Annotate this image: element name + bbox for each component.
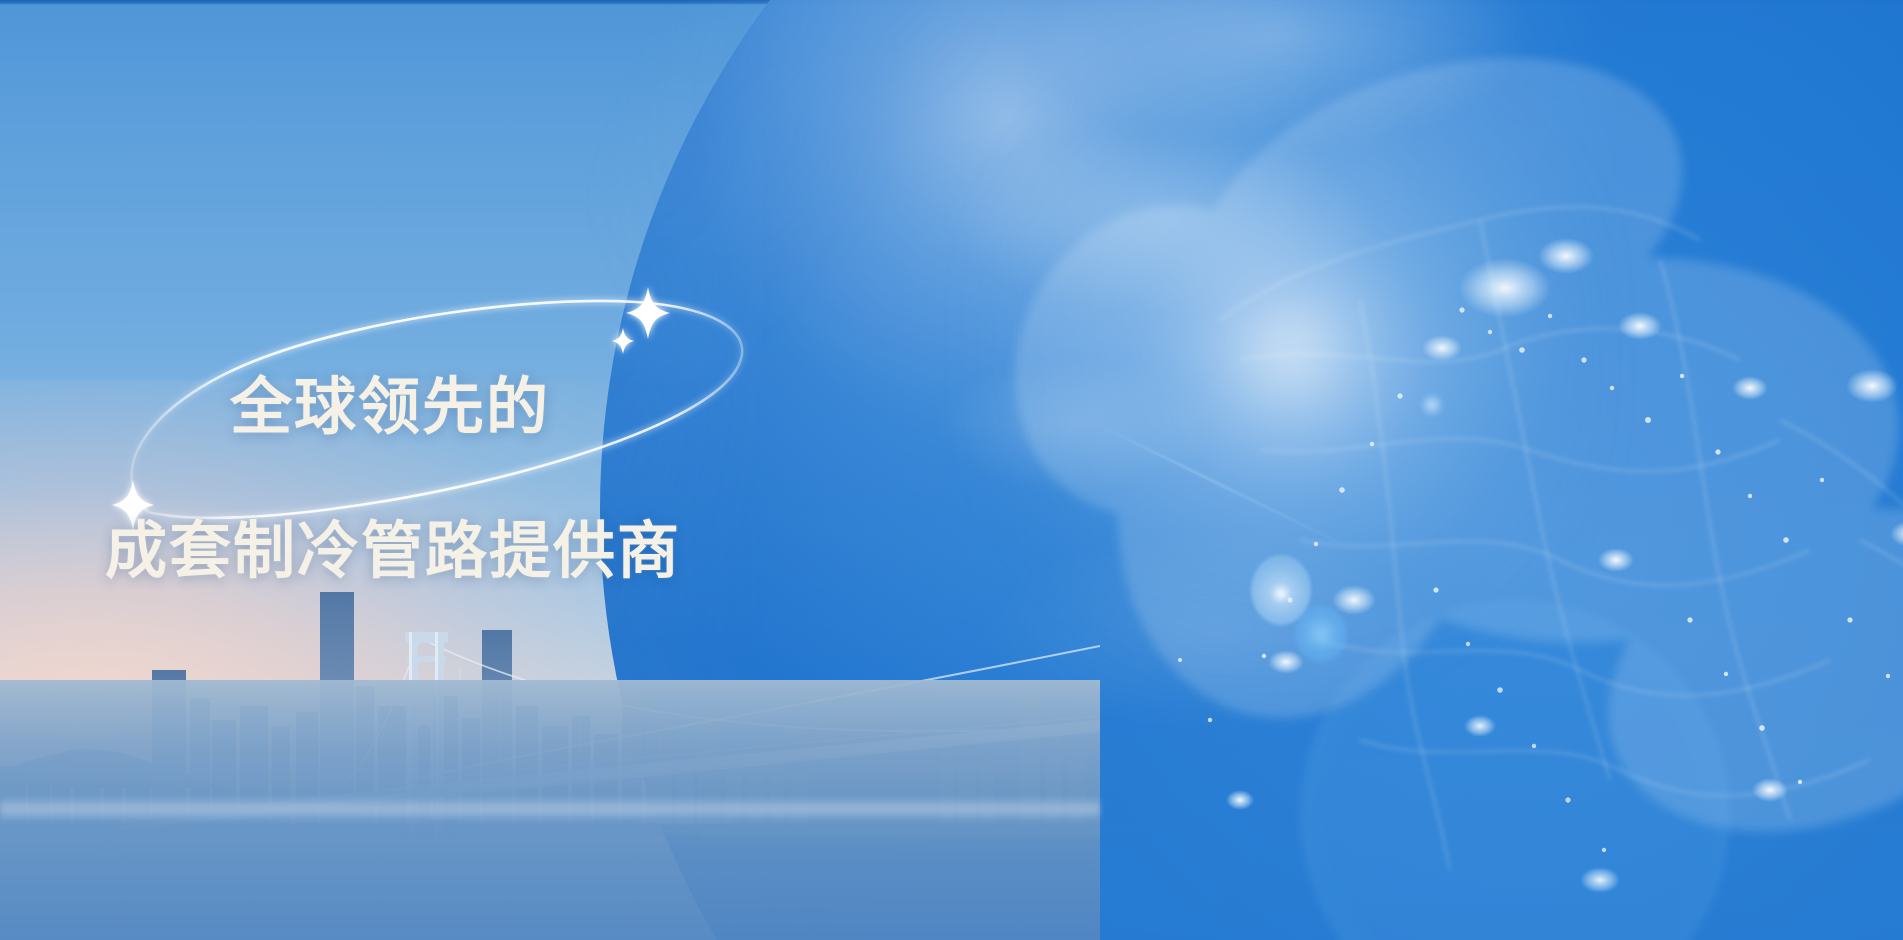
water-sheen (0, 796, 1100, 822)
top-edge-band (0, 0, 1903, 5)
headline-line-1: 全球领先的 (105, 372, 825, 444)
headline-line-2: 成套制冷管路提供商 (105, 516, 825, 588)
page-title: 全球领先的 成套制冷管路提供商 (105, 300, 825, 660)
hero-banner: 全球领先的 成套制冷管路提供商 (0, 0, 1903, 940)
